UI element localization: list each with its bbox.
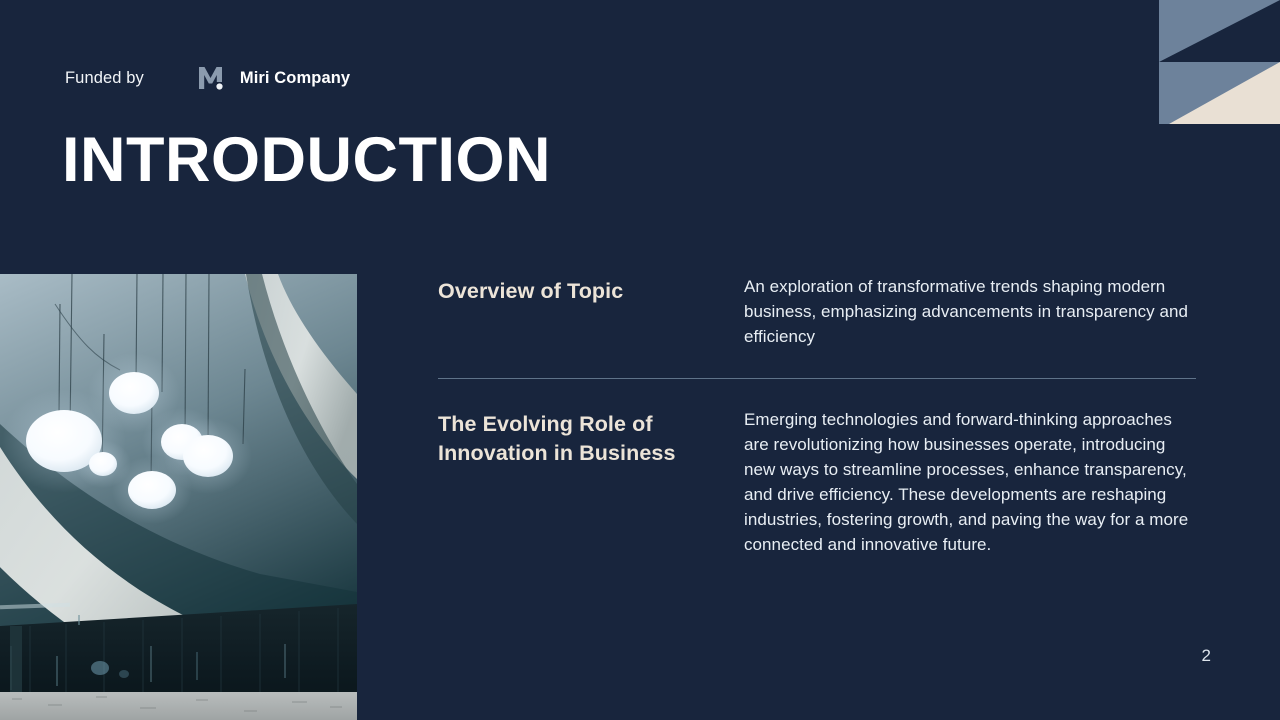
funder-row: Funded by Miri Company xyxy=(65,63,350,93)
content-column: Overview of Topic An exploration of tran… xyxy=(438,274,1196,557)
miri-m-logo-icon xyxy=(197,65,227,91)
section-body: An exploration of transformative trends … xyxy=(744,274,1196,349)
page-title: INTRODUCTION xyxy=(62,126,551,194)
section-divider xyxy=(438,378,1196,379)
section-heading: The Evolving Role of Innovation in Busin… xyxy=(438,407,744,468)
corner-triangles-decoration xyxy=(1159,0,1280,124)
funded-by-label: Funded by xyxy=(65,69,144,88)
architecture-interior-photo xyxy=(0,274,357,720)
presentation-slide: Funded by Miri Company INTRODUCTION xyxy=(0,0,1280,720)
section-heading: Overview of Topic xyxy=(438,274,744,306)
page-number: 2 xyxy=(1202,646,1211,666)
section-evolving-role-of-innovation: The Evolving Role of Innovation in Busin… xyxy=(438,407,1196,557)
funder-company-name: Miri Company xyxy=(240,69,350,88)
section-body: Emerging technologies and forward-thinki… xyxy=(744,407,1196,557)
section-overview-of-topic: Overview of Topic An exploration of tran… xyxy=(438,274,1196,349)
